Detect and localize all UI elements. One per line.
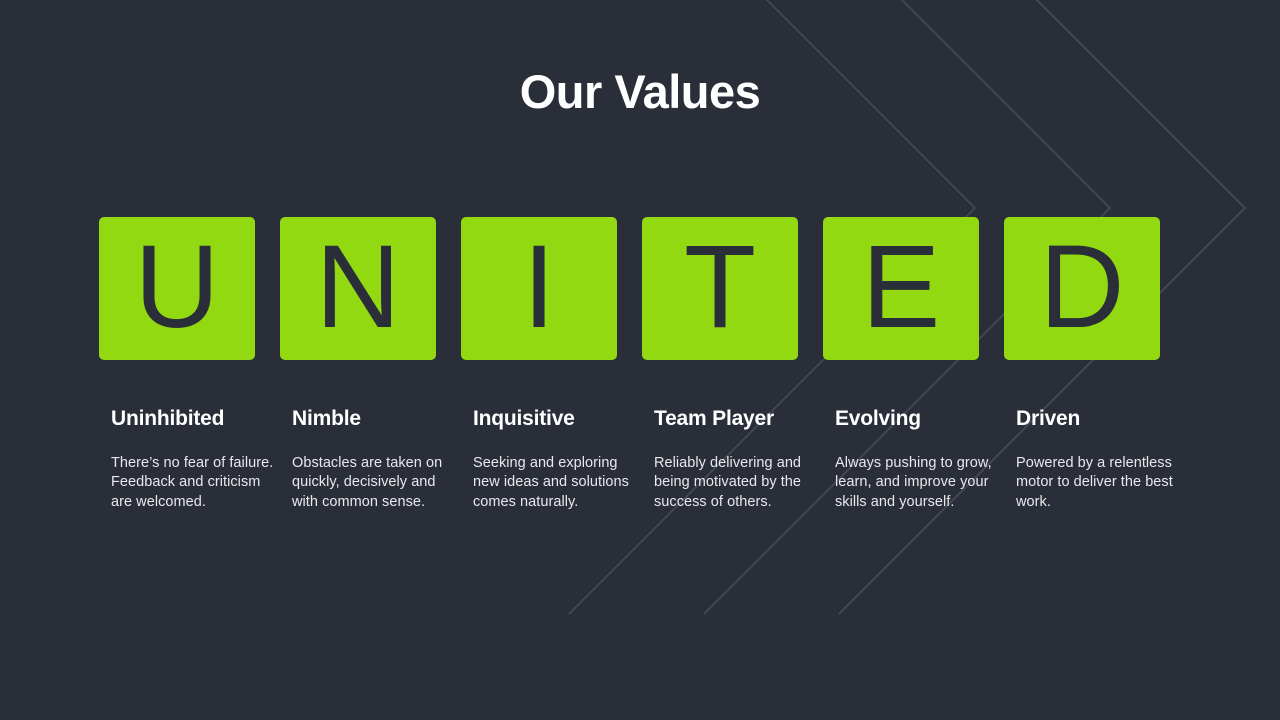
value-title: Evolving [835, 407, 979, 431]
letter-tile-d: D [1004, 217, 1160, 360]
letter-glyph: E [862, 228, 941, 346]
letter-glyph: D [1039, 228, 1124, 346]
value-description: Powered by a relentless motor to deliver… [1016, 454, 1184, 512]
letter-glyph: N [315, 228, 400, 346]
value-title: Team Player [654, 407, 798, 431]
value-title: Nimble [292, 407, 436, 431]
value-title: Driven [1016, 407, 1160, 431]
value-column-evolving: E Evolving Always pushing to grow, learn… [823, 217, 979, 512]
letter-tile-u: U [99, 217, 255, 360]
value-title: Inquisitive [473, 407, 617, 431]
value-description: Obstacles are taken on quickly, decisive… [292, 454, 460, 512]
letter-glyph: T [684, 228, 756, 346]
value-column-team-player: T Team Player Reliably delivering and be… [642, 217, 798, 512]
value-description: Seeking and exploring new ideas and solu… [473, 454, 641, 512]
value-column-inquisitive: I Inquisitive Seeking and exploring new … [461, 217, 617, 512]
value-column-nimble: N Nimble Obstacles are taken on quickly,… [280, 217, 436, 512]
value-description: Always pushing to grow, learn, and impro… [835, 454, 1003, 512]
value-column-driven: D Driven Powered by a relentless motor t… [1004, 217, 1160, 512]
value-column-uninhibited: U Uninhibited There’s no fear of failure… [99, 217, 255, 512]
letter-tile-t: T [642, 217, 798, 360]
slide-canvas: Our Values U Uninhibited There’s no fear… [0, 0, 1280, 720]
values-row: U Uninhibited There’s no fear of failure… [99, 217, 1163, 512]
value-title: Uninhibited [111, 407, 255, 431]
value-description: There’s no fear of failure. Feedback and… [111, 454, 279, 512]
letter-tile-n: N [280, 217, 436, 360]
letter-glyph: I [523, 228, 556, 346]
letter-tile-i: I [461, 217, 617, 360]
value-description: Reliably delivering and being motivated … [654, 454, 822, 512]
letter-glyph: U [134, 228, 219, 346]
letter-tile-e: E [823, 217, 979, 360]
page-title: Our Values [0, 66, 1280, 118]
